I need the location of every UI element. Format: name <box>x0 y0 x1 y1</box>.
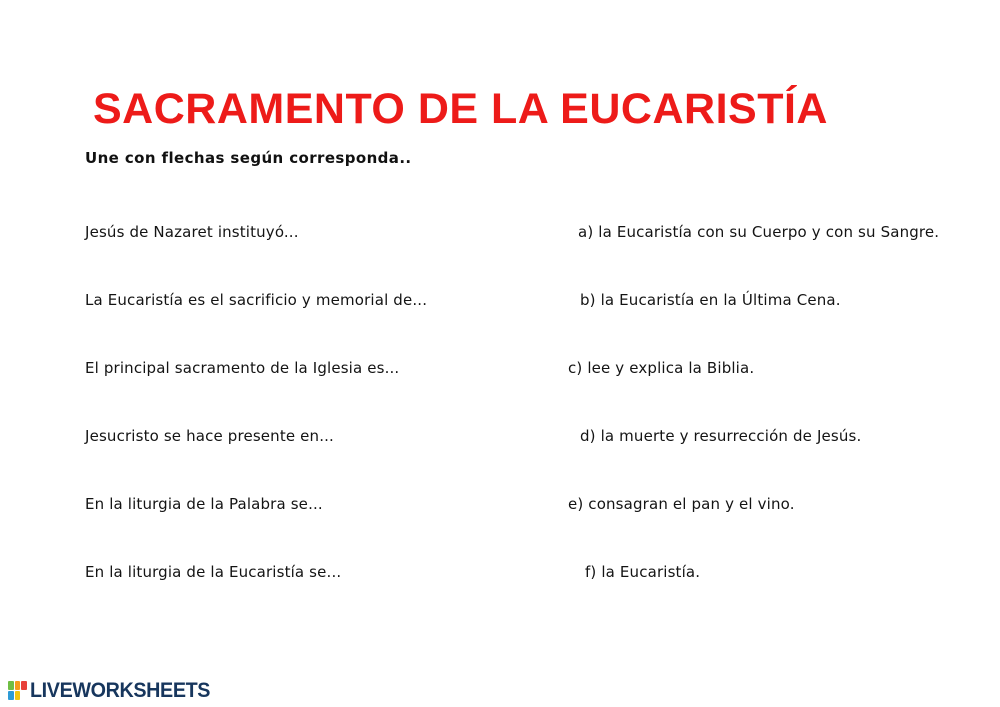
match-answer-a[interactable]: a) la Eucaristía con su Cuerpo y con su … <box>578 220 939 244</box>
match-row: En la liturgia de la Palabra se...e) con… <box>0 492 1000 516</box>
match-answer-f[interactable]: f) la Eucaristía. <box>585 560 700 584</box>
match-row: El principal sacramento de la Iglesia es… <box>0 356 1000 380</box>
logo-tile-2 <box>15 681 21 690</box>
match-prompt-6[interactable]: En la liturgia de la Eucaristía se... <box>85 560 341 584</box>
match-row: Jesucristo se hace presente en...d) la m… <box>0 424 1000 448</box>
logo-tile-1 <box>8 681 14 690</box>
match-prompt-5[interactable]: En la liturgia de la Palabra se... <box>85 492 323 516</box>
match-prompt-4[interactable]: Jesucristo se hace presente en... <box>85 424 334 448</box>
logo-tile-3 <box>21 681 27 690</box>
match-answer-c[interactable]: c) lee y explica la Biblia. <box>568 356 754 380</box>
logo-tile-6 <box>21 691 27 700</box>
match-answer-b[interactable]: b) la Eucaristía en la Última Cena. <box>580 288 841 312</box>
match-answer-d[interactable]: d) la muerte y resurrección de Jesús. <box>580 424 861 448</box>
match-row: En la liturgia de la Eucaristía se...f) … <box>0 560 1000 584</box>
matching-exercise: Jesús de Nazaret instituyó...a) la Eucar… <box>0 0 1000 620</box>
liveworksheets-logo: LIVEWORKSHEETS <box>8 680 222 701</box>
liveworksheets-brand-text: LIVEWORKSHEETS <box>30 680 210 701</box>
match-prompt-1[interactable]: Jesús de Nazaret instituyó... <box>85 220 299 244</box>
match-prompt-2[interactable]: La Eucaristía es el sacrificio y memoria… <box>85 288 427 312</box>
match-answer-e[interactable]: e) consagran el pan y el vino. <box>568 492 795 516</box>
match-prompt-3[interactable]: El principal sacramento de la Iglesia es… <box>85 356 399 380</box>
match-row: Jesús de Nazaret instituyó...a) la Eucar… <box>0 220 1000 244</box>
match-row: La Eucaristía es el sacrificio y memoria… <box>0 288 1000 312</box>
logo-tile-4 <box>8 691 14 700</box>
worksheet-page: SACRAMENTO DE LA EUCARISTÍA Une con flec… <box>0 0 1000 707</box>
logo-tile-5 <box>15 691 21 700</box>
liveworksheets-logo-icon <box>8 681 27 700</box>
